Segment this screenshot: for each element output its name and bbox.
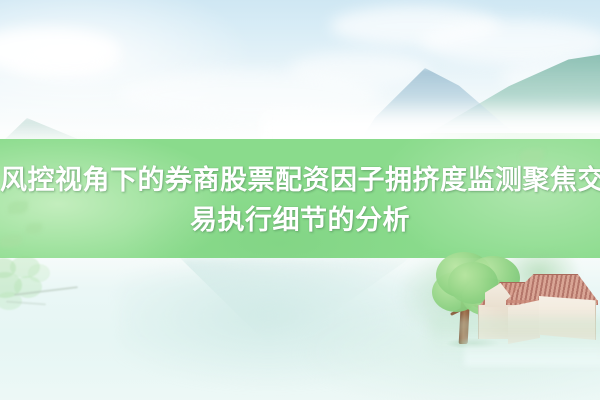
foliage-blob bbox=[28, 264, 50, 282]
cover-title-line-1: 风控视角下的券商股票配资因子拥挤度监测聚焦交 bbox=[0, 160, 600, 200]
cloud-icon bbox=[10, 46, 120, 76]
cover-title: 风控视角下的券商股票配资因子拥挤度监测聚焦交 易执行细节的分析 bbox=[0, 160, 600, 240]
article-cover-banner: 风控视角下的券商股票配资因子拥挤度监测聚焦交 易执行细节的分析 bbox=[0, 0, 600, 400]
grass-mist bbox=[430, 318, 600, 358]
foliage-left bbox=[0, 256, 113, 326]
cover-title-line-2: 易执行细节的分析 bbox=[0, 200, 600, 240]
cloud-icon bbox=[420, 20, 600, 64]
